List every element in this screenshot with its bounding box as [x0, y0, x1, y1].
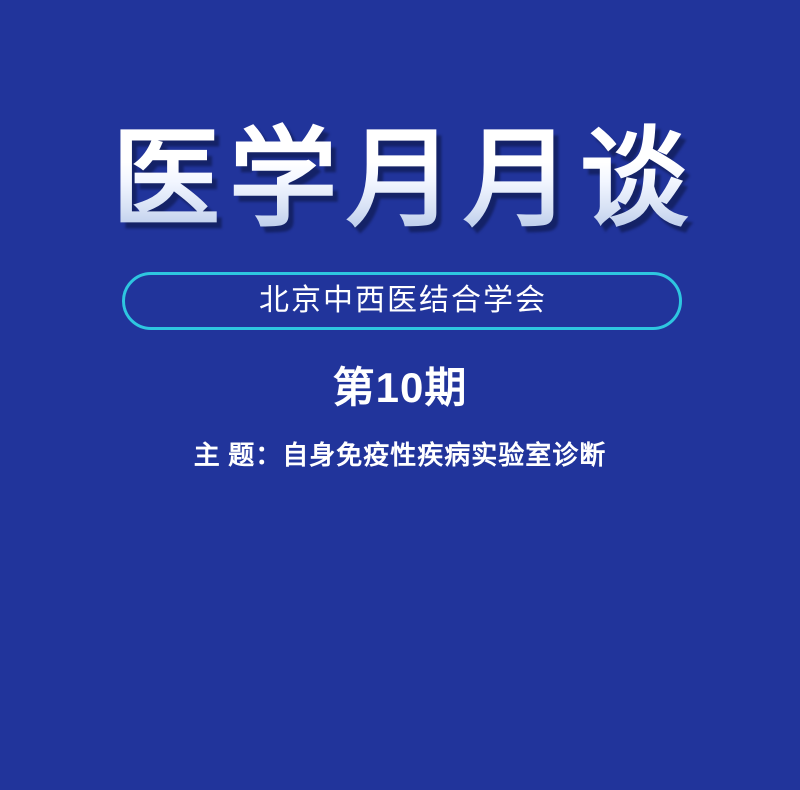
organization-pill: 北京中西医结合学会	[122, 272, 682, 330]
issue-label: 第10期	[0, 365, 800, 411]
main-title: 医学月月谈 医学月月谈	[0, 122, 800, 241]
main-title-text: 医学月月谈	[0, 122, 800, 241]
poster-canvas: 医学月月谈 医学月月谈 北京中西医结合学会 第10期 主 题：自身免疫性疾病实验…	[0, 0, 800, 790]
topic-line: 主 题：自身免疫性疾病实验室诊断	[0, 440, 800, 471]
lower-blank-area	[0, 490, 800, 790]
organization-name: 北京中西医结合学会	[257, 286, 547, 316]
